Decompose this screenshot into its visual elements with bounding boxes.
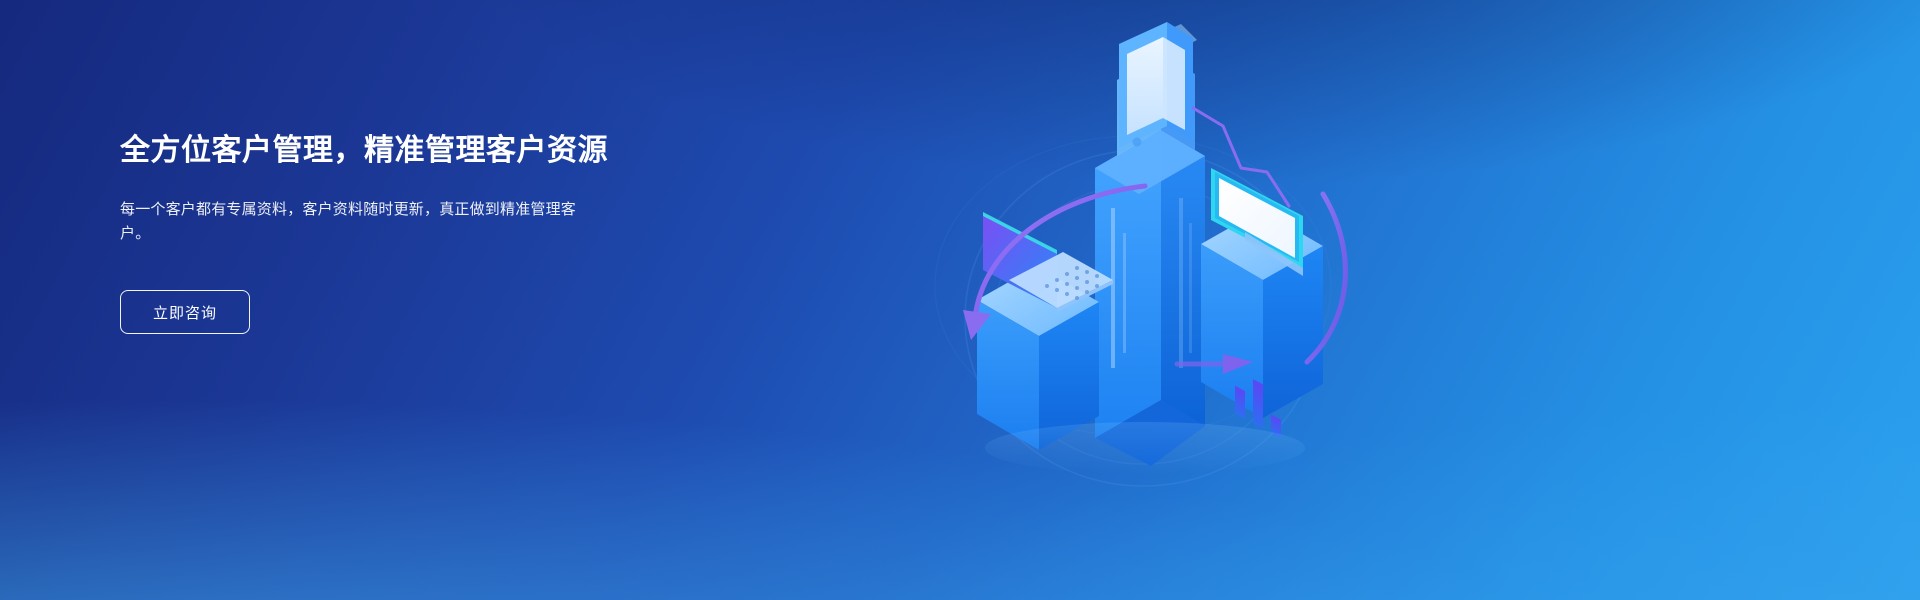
tablet-device bbox=[1119, 18, 1197, 148]
ground-glow bbox=[985, 422, 1305, 474]
hero-copy-block: 全方位客户管理，精准管理客户资源 每一个客户都有专属资料，客户资料随时更新，真正… bbox=[120, 132, 680, 334]
consult-now-button[interactable]: 立即咨询 bbox=[120, 290, 250, 334]
hero-banner: 全方位客户管理，精准管理客户资源 每一个客户都有专属资料，客户资料随时更新，真正… bbox=[0, 0, 1920, 600]
hero-subtitle: 每一个客户都有专属资料，客户资料随时更新，真正做到精准管理客户。 bbox=[120, 198, 600, 247]
hero-illustration bbox=[905, 18, 1375, 488]
page-title: 全方位客户管理，精准管理客户资源 bbox=[120, 132, 680, 170]
